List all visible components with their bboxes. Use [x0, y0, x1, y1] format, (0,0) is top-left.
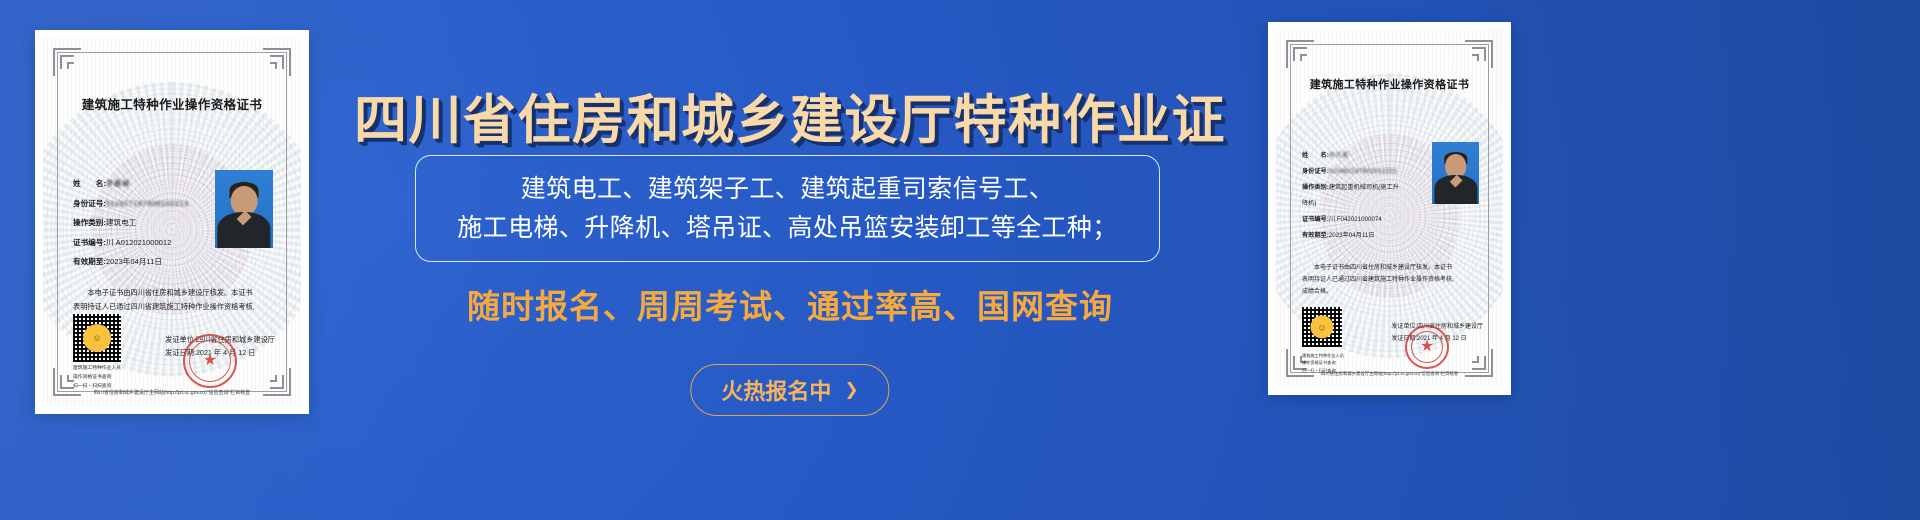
statement-line: 本电子证书由四川省住房和城乡建设厅核发。本证书 — [73, 286, 275, 300]
issuer-label: 发证单位: — [1391, 324, 1417, 330]
trades-description-box: 建筑电工、建筑架子工、建筑起重司索信号工、 施工电梯、升降机、塔吊证、高处吊篮安… — [415, 155, 1160, 262]
field-label: 有效期至: — [1302, 230, 1329, 239]
field-value: 川 A012021000012 — [106, 237, 171, 248]
field-row: 降机) — [1302, 198, 1399, 207]
statement-line: 本电子证书由四川省住房和城乡建设厅核发。本证书 — [1302, 262, 1481, 274]
field-value: 510481197802012221 — [1329, 168, 1398, 175]
field-row: 身份证号: 510481197802012221 — [1302, 166, 1399, 175]
certificate-footnote: 四川省住房和城乡建设厅主网站(http://jzt.sc.gov.cn)“信息查… — [1276, 371, 1503, 377]
photo-collar — [1449, 174, 1461, 186]
qr-code[interactable]: ☺ — [1302, 307, 1342, 347]
qr-code[interactable]: ☺ — [73, 314, 121, 362]
caption-line: 建筑施工特种作业人员 — [1302, 352, 1344, 360]
certificate-fields-right: 姓 名: 孙兰英 身份证号: 510481197802012221 操作类别: … — [1302, 150, 1399, 246]
seal-inner-ring — [1411, 331, 1443, 363]
field-value: 2023年04月11日 — [106, 256, 162, 267]
statement-line: 表明持证人已通过四川省建筑施工特种作业操作资格考核, — [1302, 274, 1481, 286]
enroll-now-label: 火热报名中 — [721, 374, 831, 406]
photo-torso — [1434, 175, 1477, 204]
seal-star-icon: ★ — [1420, 339, 1434, 355]
certificate-card-right: 建筑施工特种作业操作资格证书 姓 名: 孙兰英 身份证号: 5104811978… — [1268, 22, 1511, 395]
page-title: 四川省住房和城乡建设厅特种作业证 — [330, 78, 1250, 154]
issue-date-line: 发证日期:2021 年 4 月 12 日 — [1391, 334, 1483, 345]
issue-date-value: 2021 年 4 月 12 日 — [1417, 336, 1467, 342]
photo-hair — [1444, 152, 1468, 164]
certificate-footnote: 四川省住房和城乡建设厅主网站(http://jzt.sc.gov.cn)“信息查… — [43, 389, 301, 396]
issue-date-label: 发证日期: — [1391, 336, 1417, 342]
promotional-banner: 建筑施工特种作业操作资格证书 姓 名: 李春琳 身份证号: 5116271979… — [0, 0, 1920, 520]
field-row: 证书编号: 川 F042021000074 — [1302, 214, 1399, 223]
issuer-block-right: 发证单位:四川省住房和城乡建设厅 发证日期:2021 年 4 月 12 日 — [1391, 322, 1483, 345]
qr-center-emoji-icon: ☺ — [1310, 315, 1333, 338]
holder-photo — [1432, 142, 1479, 204]
field-row: 证书编号: 川 A012021000012 — [73, 237, 189, 248]
caption-line: 操作资格证书查询 — [73, 374, 121, 383]
issuer-line: 发证单位:四川省住房和城乡建设厅 — [1391, 322, 1483, 333]
qr-caption-left: 建筑施工特种作业人员 操作资格证书查询 扫一扫・扫扫查询 — [73, 365, 121, 392]
field-value: 降机) — [1302, 198, 1316, 207]
description-line-1: 建筑电工、建筑架子工、建筑起重司索信号工、 — [521, 170, 1054, 209]
field-value: 李春琳 — [106, 178, 130, 189]
banner-content: 四川省住房和城乡建设厅特种作业证 建筑电工、建筑架子工、建筑起重司索信号工、 施… — [330, 0, 1250, 520]
field-value: 511627197908102213 — [106, 199, 189, 208]
field-row: 姓 名: 孙兰英 — [1302, 150, 1399, 159]
field-label: 操作类别: — [73, 217, 106, 228]
certificate-fields-left: 姓 名: 李春琳 身份证号: 511627197908102213 操作类别: … — [73, 178, 189, 276]
tagline: 随时报名、周周考试、通过率高、国网查询 — [330, 280, 1250, 328]
fret-corner-icon — [1451, 40, 1493, 82]
field-label: 身份证号: — [73, 198, 106, 209]
enroll-now-button[interactable]: 火热报名中 ❯ — [690, 364, 889, 416]
field-value: 2023年04月11日 — [1329, 230, 1375, 239]
qr-center-emoji-icon: ☺ — [83, 324, 111, 352]
field-label: 证书编号: — [1302, 214, 1329, 223]
certificate-title: 建筑施工特种作业操作资格证书 — [1276, 76, 1503, 92]
certificate-title: 建筑施工特种作业操作资格证书 — [43, 94, 301, 113]
certificate-card-left: 建筑施工特种作业操作资格证书 姓 名: 李春琳 身份证号: 5116271979… — [35, 30, 309, 414]
photo-face — [1445, 154, 1467, 178]
fret-corner-icon — [1451, 335, 1493, 377]
field-value: 建筑电工 — [106, 217, 136, 228]
fret-corner-icon — [249, 48, 291, 90]
caption-line: 建筑施工特种作业人员 — [73, 365, 121, 374]
field-label: 证书编号: — [73, 237, 106, 248]
field-row: 操作类别: 建筑起重机械司机(施工升 — [1302, 182, 1399, 191]
certificate-inner-left: 建筑施工特种作业操作资格证书 姓 名: 李春琳 身份证号: 5116271979… — [43, 38, 301, 406]
description-line-2: 施工电梯、升降机、塔吊证、高处吊篮安装卸工等全工种； — [457, 209, 1117, 248]
caption-line: 操作资格证书查询 — [1302, 359, 1344, 367]
field-row: 有效期至: 2023年04月11日 — [73, 256, 189, 267]
seal-star-icon: ★ — [203, 353, 217, 369]
field-label: 操作类别: — [1302, 182, 1329, 191]
statement-line: 表明持证人已通过四川省建筑施工特种作业操作资格考核, — [73, 300, 275, 314]
official-seal-stamp: ★ — [1405, 325, 1449, 369]
field-value: 建筑起重机械司机(施工升 — [1329, 182, 1399, 191]
holder-photo — [215, 170, 273, 248]
field-label: 有效期至: — [73, 256, 106, 267]
issuer-value: 四川省住房和城乡建设厅 — [1417, 324, 1483, 330]
field-row: 有效期至: 2023年04月11日 — [1302, 230, 1399, 239]
field-value: 孙兰英 — [1329, 150, 1349, 159]
field-row: 身份证号: 511627197908102213 — [73, 198, 189, 209]
field-label: 身份证号: — [1302, 166, 1329, 175]
chevron-right-icon: ❯ — [844, 380, 858, 400]
field-label: 姓 名: — [73, 178, 106, 189]
field-row: 操作类别: 建筑电工 — [73, 217, 189, 228]
field-value: 川 F042021000074 — [1329, 214, 1382, 223]
certificate-inner-right: 建筑施工特种作业操作资格证书 姓 名: 孙兰英 身份证号: 5104811978… — [1276, 30, 1503, 387]
field-row: 姓 名: 李春琳 — [73, 178, 189, 189]
official-seal-stamp: ★ — [183, 334, 237, 388]
fret-corner-icon — [53, 48, 95, 90]
statement-line: 成绩合格。 — [1302, 286, 1481, 298]
field-label: 姓 名: — [1302, 150, 1329, 159]
certificate-statement-right: 本电子证书由四川省住房和城乡建设厅核发。本证书 表明持证人已通过四川省建筑施工特… — [1302, 262, 1481, 298]
